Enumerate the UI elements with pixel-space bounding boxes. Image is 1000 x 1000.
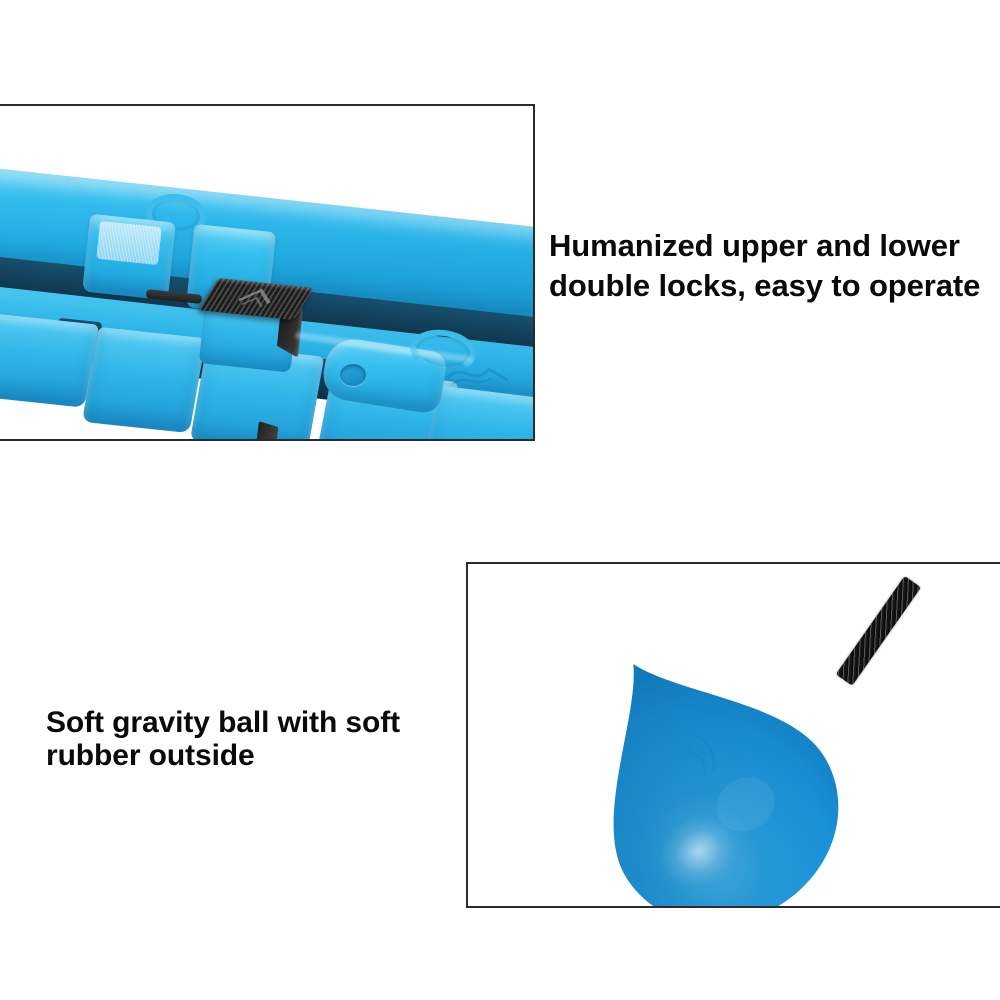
caption-gravity-ball: Soft gravity ball with soft rubber outsi… [46,706,446,772]
hoop-hinge-pivot-boss [340,364,366,386]
gravity-ball-photo [468,564,1000,906]
caption-line: double locks, easy to operate [549,266,989,306]
caption-double-locks: Humanized upper and lower double locks, … [549,226,989,306]
braided-cord-texture [836,576,921,686]
smart-hoop-lock-closeup-photo [0,106,533,439]
caption-line: Soft gravity ball with soft [46,706,446,739]
hoop-collar-matte-texture [96,221,162,265]
product-feature-collage: Humanized upper and lower double locks, … [0,0,1000,1000]
gravity-ball [524,598,887,908]
caption-line: Humanized upper and lower [549,226,989,266]
hoop-lower-lock-tab [82,327,206,433]
ball-photo-frame [466,562,1000,908]
hoop-lower-lock-tab [0,312,99,407]
gravity-ball-cord [836,576,921,686]
hoop-photo-frame [0,104,535,441]
caption-line: rubber outside [46,739,446,772]
